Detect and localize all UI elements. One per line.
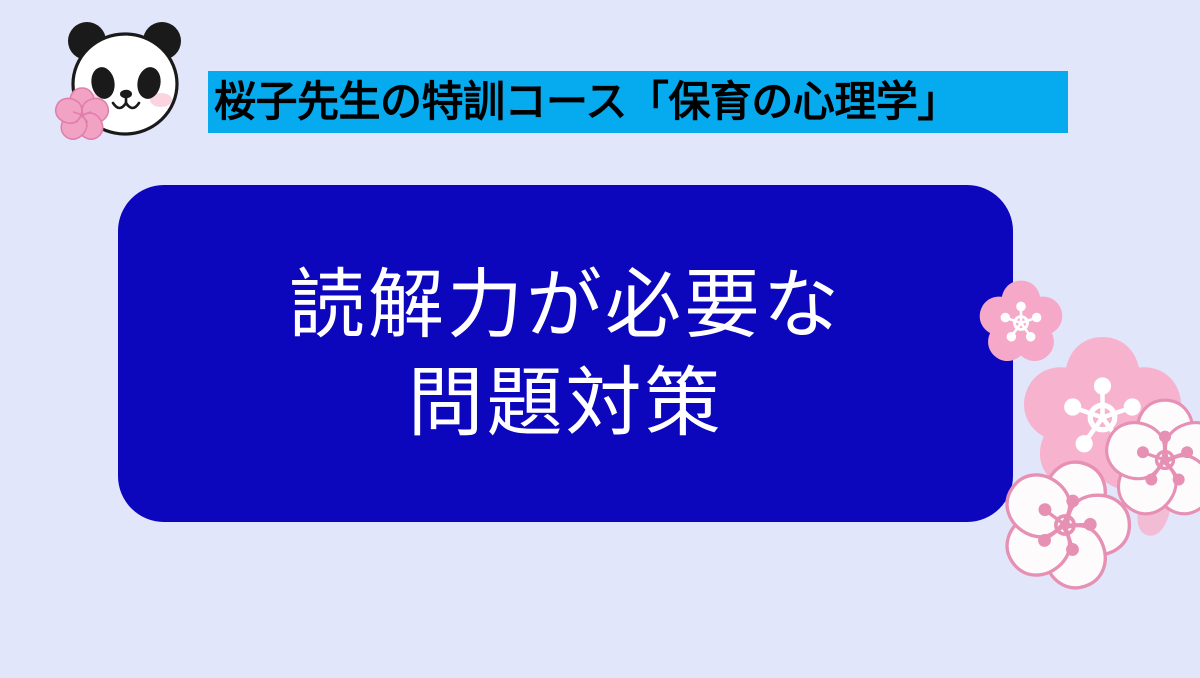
panda-mascot (34, 12, 204, 162)
sakura-white-lower-icon (995, 455, 1135, 595)
course-title-text: 桜子先生の特訓コース「保育の心理学」 (214, 81, 959, 123)
header: 桜子先生の特訓コース「保育の心理学」 (0, 0, 1200, 170)
headline-line-1: 読解力が必要な (289, 256, 842, 353)
sakura-pink-small-icon (975, 277, 1067, 369)
course-title-bar: 桜子先生の特訓コース「保育の心理学」 (208, 71, 1068, 133)
headline-line-2: 問題対策 (408, 354, 724, 451)
slide-canvas: 桜子先生の特訓コース「保育の心理学」 読解力が必要な 問題対策 (0, 0, 1200, 678)
headline-card: 読解力が必要な 問題対策 (118, 185, 1013, 522)
